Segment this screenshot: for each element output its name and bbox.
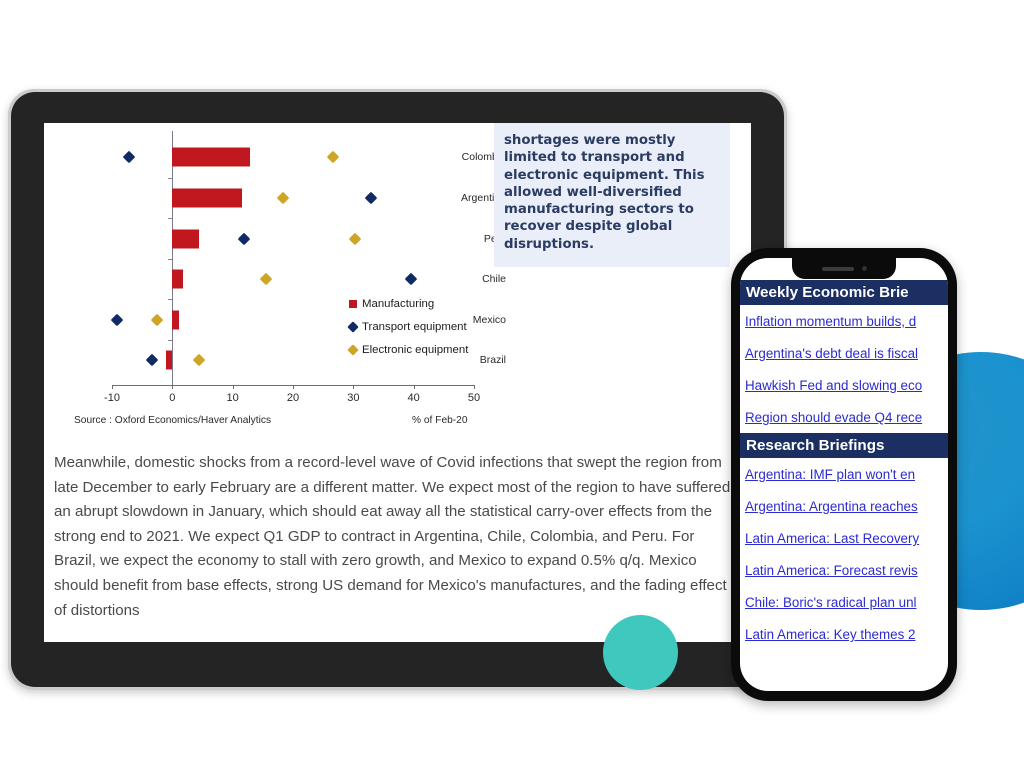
chart-x-axis-labels: -1001020304050 [44,393,506,409]
chart-x-tick-label: 30 [347,393,359,404]
chart-diamond-marker [260,273,273,286]
decorative-teal-circle [603,615,678,690]
chart-x-tick [112,385,113,389]
phone-article-link[interactable]: Latin America: Forecast revis [740,554,948,586]
chart-bar [172,310,179,329]
chart-diamond-marker [123,151,136,164]
phone-device: Weekly Economic BrieInflation momentum b… [731,248,957,701]
legend-label: Electronic equipment [362,344,468,356]
chart-diamond-marker [145,354,158,367]
chart-region: ColombiaArgentinaPeruChileMexicoBrazil -… [44,123,751,419]
chart-diamond-marker [326,151,339,164]
phone-article-link[interactable]: Chile: Boric's radical plan unl [740,586,948,618]
chart-diamond-marker [110,313,123,326]
legend-item-electronic: Electronic equipment [349,343,468,356]
chart-x-tick [414,385,415,389]
chart-x-tick [233,385,234,389]
diamond-marker-icon [347,344,358,355]
article-body: Meanwhile, domestic shocks from a record… [54,451,734,623]
chart-diamond-marker [348,232,361,245]
chart-diamond-marker [151,313,164,326]
chart-bar [172,188,242,207]
callout-box: shortages were mostly limited to transpo… [494,123,730,267]
phone-screen[interactable]: Weekly Economic BrieInflation momentum b… [740,258,948,691]
phone-article-link[interactable]: Inflation momentum builds, d [740,305,948,337]
chart-bar [166,351,172,370]
chart-x-tick [172,385,173,389]
chart-legend: Manufacturing Transport equipment Electr… [349,297,468,366]
chart-minor-tick [168,340,172,341]
chart-diamond-marker [238,232,251,245]
chart-x-tick-label: 40 [408,393,420,404]
chart-diamond-marker [405,273,418,286]
article-paragraph: Meanwhile, domestic shocks from a record… [54,451,734,623]
tablet-screen[interactable]: ColombiaArgentinaPeruChileMexicoBrazil -… [44,123,751,642]
phone-article-link[interactable]: Argentina: IMF plan won't en [740,458,948,490]
chart-x-tick [353,385,354,389]
chart-x-tick [293,385,294,389]
phone-article-link[interactable]: Latin America: Key themes 2 [740,618,948,650]
tablet-device: ColombiaArgentinaPeruChileMexicoBrazil -… [8,89,787,690]
phone-article-link[interactable]: Hawkish Fed and slowing eco [740,369,948,401]
chart-category-label: Chile [441,274,506,285]
chart-bar [172,270,183,289]
chart-x-tick-label: 20 [287,393,299,404]
callout-text: shortages were mostly limited to transpo… [504,132,720,253]
front-camera-icon [862,266,867,271]
chart-source-note: Source : Oxford Economics/Haver Analytic… [74,415,271,426]
phone-article-link[interactable]: Argentina: Argentina reaches [740,490,948,522]
chart-x-tick-label: 10 [227,393,239,404]
scene: ColombiaArgentinaPeruChileMexicoBrazil -… [0,0,1024,768]
phone-section-heading: Research Briefings [740,433,948,458]
speaker-grille-icon [822,267,854,271]
phone-section-heading: Weekly Economic Brie [740,280,948,305]
legend-item-manufacturing: Manufacturing [349,297,468,310]
phone-article-link[interactable]: Latin America: Last Recovery [740,522,948,554]
chart-bar [172,148,249,167]
chart-diamond-marker [365,192,378,205]
chart-diamond-marker [276,192,289,205]
legend-label: Manufacturing [362,298,434,310]
chart-zero-line [172,131,173,385]
chart-minor-tick [168,299,172,300]
tablet-bezel: ColombiaArgentinaPeruChileMexicoBrazil -… [11,92,784,687]
chart-diamond-marker [193,354,206,367]
phone-content-list: Weekly Economic BrieInflation momentum b… [740,258,948,691]
phone-notch [792,258,896,279]
chart-x-tick [474,385,475,389]
chart-unit-note: % of Feb-20 [412,415,468,426]
chart-minor-tick [168,178,172,179]
chart-x-tick-label: -10 [104,393,120,404]
chart-x-tick-label: 0 [169,393,175,404]
chart-x-tick-label: 50 [468,393,480,404]
legend-label: Transport equipment [362,321,467,333]
phone-article-link[interactable]: Region should evade Q4 rece [740,401,948,433]
phone-article-link[interactable]: Argentina's debt deal is fiscal [740,337,948,369]
square-marker-icon [349,300,357,308]
bar-chart: ColombiaArgentinaPeruChileMexicoBrazil -… [44,123,506,419]
diamond-marker-icon [347,321,358,332]
chart-bar [172,229,199,248]
chart-minor-tick [168,259,172,260]
legend-item-transport: Transport equipment [349,320,468,333]
chart-minor-tick [168,218,172,219]
